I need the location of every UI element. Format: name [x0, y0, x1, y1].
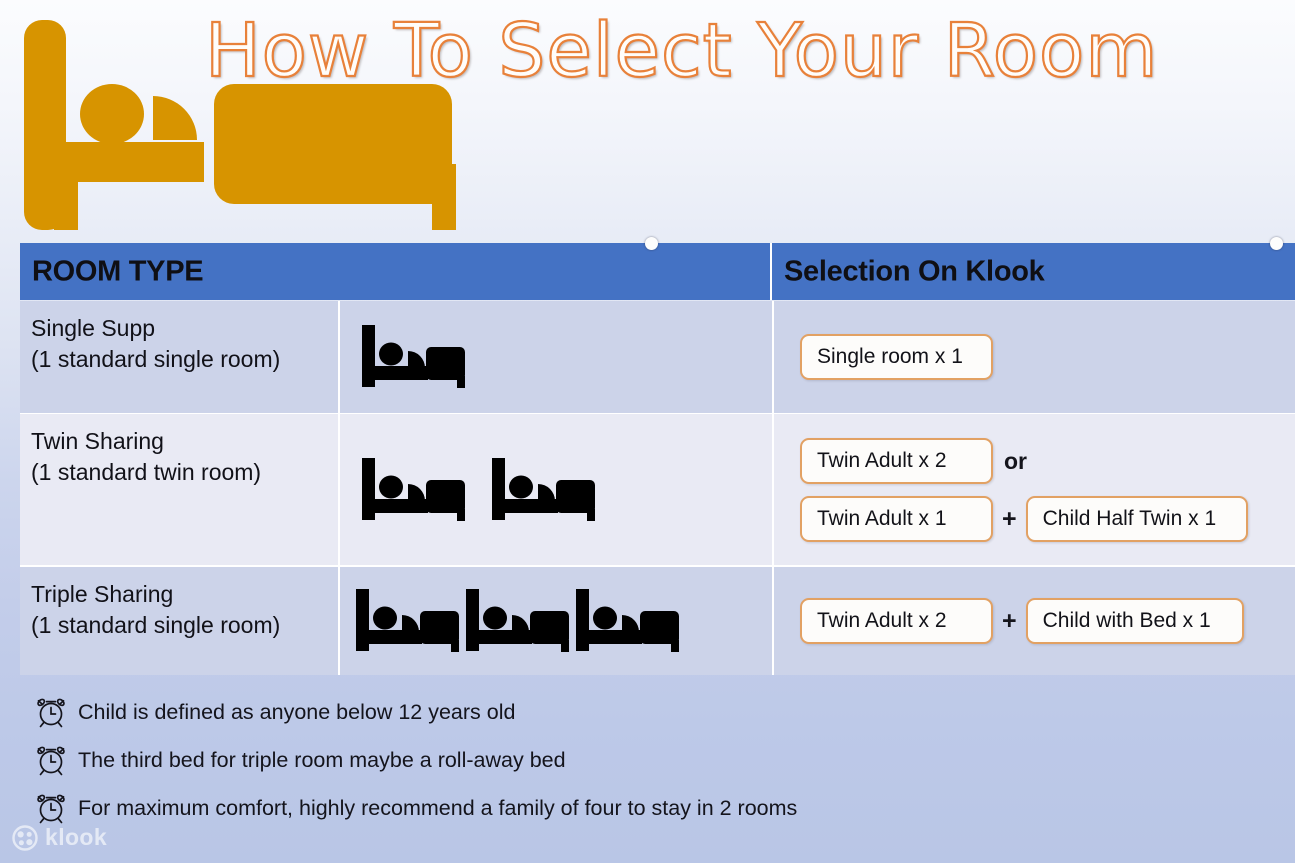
footnote-item: For maximum comfort, highly recommend a …: [33, 784, 1233, 832]
column-divider-2: [772, 567, 774, 675]
klook-logo-icon: [12, 825, 38, 851]
table-header-room-type: ROOM TYPE: [20, 243, 772, 300]
row-3-type-cell: Triple Sharing (1 standard single room): [20, 567, 338, 675]
alarm-clock-icon: [33, 694, 69, 730]
bed-group-3: [352, 585, 684, 657]
table-resize-handle[interactable]: [645, 237, 658, 250]
row-1-chip-stack: Single room x 1: [800, 301, 993, 413]
joiner-plus: +: [1002, 607, 1017, 636]
chip-child-half-twin[interactable]: Child Half Twin x 1: [1026, 496, 1248, 542]
table-row: Single Supp (1 standard single room): [20, 301, 1295, 413]
row-3-selection-cell: Twin Adult x 2 + Child with Bed x 1: [774, 567, 1295, 675]
row-1-type-cell: Single Supp (1 standard single room): [20, 301, 338, 413]
chip-row: Twin Adult x 1 + Child Half Twin x 1: [800, 496, 1248, 542]
column-divider-1: [338, 414, 340, 566]
row-3-label: Triple Sharing (1 standard single room): [31, 579, 280, 641]
column-divider-2: [772, 414, 774, 566]
bed-icon: [358, 454, 470, 526]
row-2-type-cell: Twin Sharing (1 standard twin room): [20, 414, 338, 566]
column-divider-1: [338, 567, 340, 675]
row-3-chip-stack: Twin Adult x 2 + Child with Bed x 1: [800, 567, 1244, 675]
row-2-label: Twin Sharing (1 standard twin room): [31, 426, 261, 488]
header-label-room-type: ROOM TYPE: [32, 255, 203, 288]
footnote-text: For maximum comfort, highly recommend a …: [78, 796, 797, 821]
table-row: Triple Sharing (1 standard single room): [20, 567, 1295, 675]
table-header-selection: Selection On Klook: [772, 243, 1295, 300]
alarm-clock-icon: [33, 790, 69, 826]
joiner-plus: +: [1002, 505, 1017, 534]
alarm-clock-icon: [33, 742, 69, 778]
chip-twin-adult-x2[interactable]: Twin Adult x 2: [800, 438, 993, 484]
bed-icon: [358, 321, 470, 393]
chip-row: Single room x 1: [800, 334, 993, 380]
page-title: How To Select Your Room: [205, 6, 1185, 98]
infographic-page: How To Select Your Room ROOM TYPE Select…: [0, 0, 1295, 863]
row-2-selection-cell: Twin Adult x 2 or Twin Adult x 1 + Child…: [774, 414, 1295, 566]
row-2-bed-cell: [340, 414, 772, 566]
chip-twin-adult-x2[interactable]: Twin Adult x 2: [800, 598, 993, 644]
chip-child-with-bed[interactable]: Child with Bed x 1: [1026, 598, 1244, 644]
footnote-item: The third bed for triple room maybe a ro…: [33, 736, 1233, 784]
column-divider-1: [338, 301, 340, 413]
chip-row: Twin Adult x 2 or: [800, 438, 1248, 484]
footnote-text: Child is defined as anyone below 12 year…: [78, 700, 515, 725]
chip-twin-adult-x1[interactable]: Twin Adult x 1: [800, 496, 993, 542]
bed-icon: [352, 585, 464, 657]
row-3-bed-cell: [340, 567, 772, 675]
table-row: Twin Sharing (1 standard twin room): [20, 414, 1295, 566]
chip-row: Twin Adult x 2 + Child with Bed x 1: [800, 598, 1244, 644]
bed-icon: [462, 585, 574, 657]
footnote-item: Child is defined as anyone below 12 year…: [33, 688, 1233, 736]
row-2-chip-stack: Twin Adult x 2 or Twin Adult x 1 + Child…: [800, 414, 1248, 566]
bed-group-1: [358, 321, 470, 393]
bed-icon: [488, 454, 600, 526]
row-1-label: Single Supp (1 standard single room): [31, 313, 280, 375]
table-resize-handle[interactable]: [1270, 237, 1283, 250]
joiner-or: or: [1004, 448, 1027, 475]
bed-group-2: [358, 454, 600, 526]
klook-watermark: klook: [12, 824, 107, 851]
row-1-bed-cell: [340, 301, 772, 413]
header-label-selection: Selection On Klook: [784, 255, 1044, 288]
chip-single-room[interactable]: Single room x 1: [800, 334, 993, 380]
column-divider-2: [772, 301, 774, 413]
footnotes-list: Child is defined as anyone below 12 year…: [33, 688, 1233, 832]
bed-icon: [572, 585, 684, 657]
klook-wordmark: klook: [45, 824, 107, 851]
row-1-selection-cell: Single room x 1: [774, 301, 1295, 413]
footnote-text: The third bed for triple room maybe a ro…: [78, 748, 566, 773]
room-selection-table: ROOM TYPE Selection On Klook Single Supp…: [20, 243, 1295, 675]
